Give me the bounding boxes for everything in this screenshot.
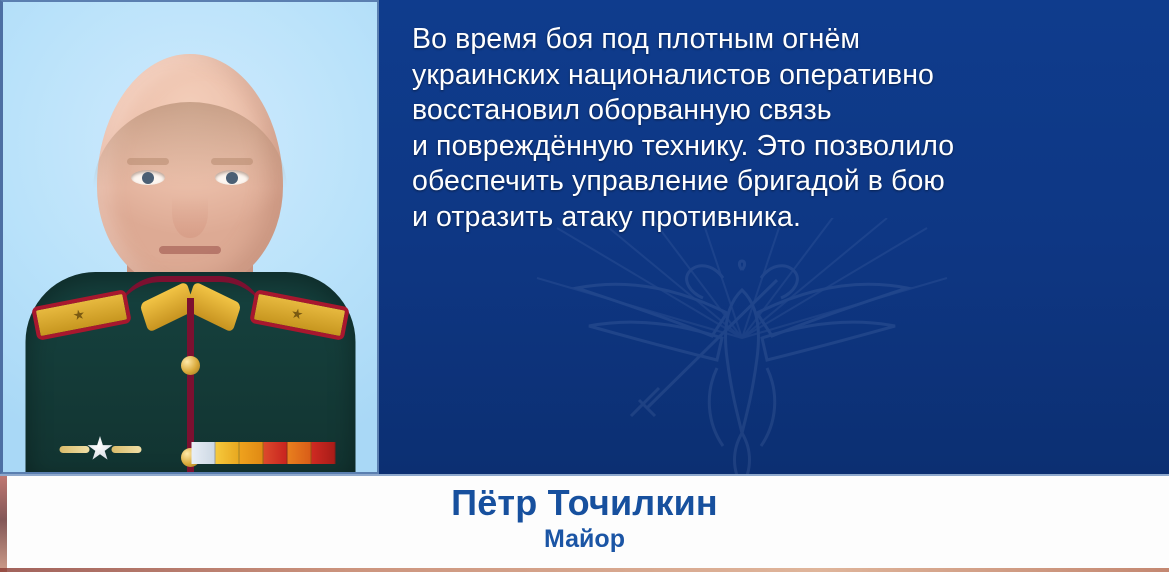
pupil-left [142,172,154,184]
eyebrow-left [127,158,169,165]
portrait-photo [0,0,379,474]
name-bar-bottom-edge [0,568,1169,572]
badge-star [87,436,113,462]
ribbon [287,442,311,464]
shoulder-star-icon [290,308,303,321]
ribbon [311,442,335,464]
eyebrow-right [211,158,253,165]
nose [172,186,208,238]
pupil-right [226,172,238,184]
uniform-tunic [25,272,355,472]
card-top-region: Во время боя под плотным огнём украински… [0,0,1169,474]
badge-wing-right [111,446,141,453]
name-bar: Пётр Точилкин Майор [0,474,1169,572]
ribbon [263,442,287,464]
shoulder-board-right [249,289,350,341]
name-bar-left-edge [0,476,7,572]
military-uniform [1,272,380,472]
ribbon [215,442,239,464]
badge-wing-left [59,446,89,453]
eye-left [131,170,165,185]
shoulder-star-icon [72,309,85,322]
military-eagle-emblem-icon [527,218,957,474]
shoulder-board-left [31,289,132,341]
medal-ribbon-bar [191,442,335,464]
quote-text: Во время боя под плотным огнём украински… [412,22,1151,235]
mouth [159,246,221,254]
person-name: Пётр Точилкин [0,476,1169,524]
soldier-profile-card: Во время боя под плотным огнём украински… [0,0,1169,572]
uniform-button-top [181,356,200,375]
eye-right [215,170,249,185]
quote-panel: Во время боя под плотным огнём украински… [379,0,1169,474]
ribbon [239,442,263,464]
winged-star-badge-icon [59,436,141,462]
person-rank: Майор [0,524,1169,554]
ribbon [191,442,215,464]
